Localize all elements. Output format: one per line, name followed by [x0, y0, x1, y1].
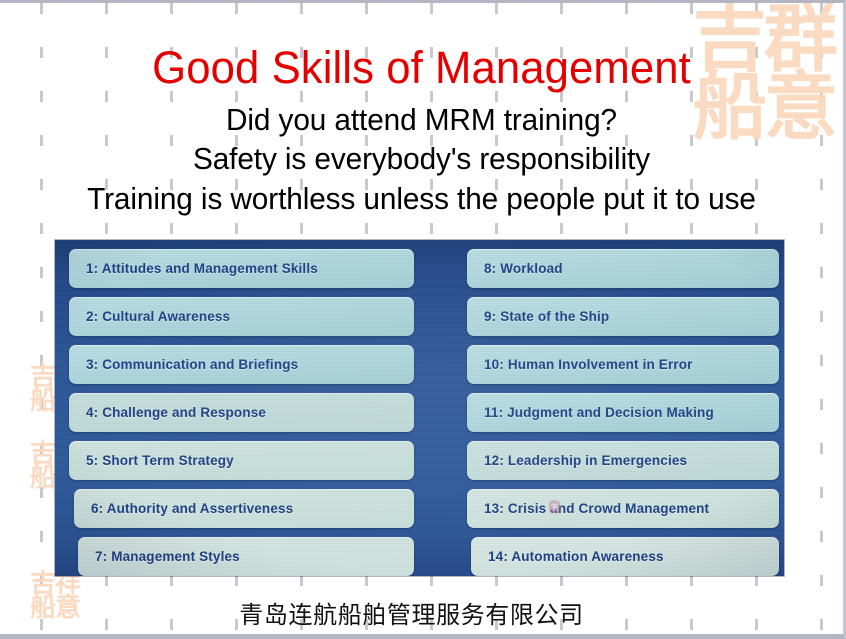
module-item-label: 11: Judgment and Decision Making — [484, 405, 714, 420]
subtitle-line-2: Safety is everybody's responsibility — [17, 139, 826, 179]
module-item-label: 14: Automation Awareness — [488, 549, 664, 564]
module-item: 3: Communication and Briefings — [69, 345, 414, 384]
module-item: 7: Management Styles — [78, 537, 414, 576]
module-item: 12: Leadership in Emergencies — [467, 441, 779, 480]
page-title: Good Skills of Management — [13, 45, 831, 92]
module-item: 6: Authority and Assertiveness — [74, 489, 414, 528]
module-item-label: 5: Short Term Strategy — [86, 453, 234, 468]
module-item-label: 12: Leadership in Emergencies — [484, 453, 687, 468]
module-item-label: 8: Workload — [484, 261, 563, 276]
module-item: 8: Workload — [467, 249, 779, 288]
module-list-right-column: 8: Workload 9: State of the Ship 10: Hum… — [467, 249, 779, 576]
module-list-left-column: 1: Attitudes and Management Skills 2: Cu… — [69, 249, 414, 576]
module-item: 1: Attitudes and Management Skills — [69, 249, 414, 288]
module-item-label: 13: Crisis and Crowd Management — [484, 501, 709, 516]
company-name: 青岛连航船舶管理服务有限公司 — [239, 601, 583, 629]
subtitle-line-1: Did you attend MRM training? — [17, 100, 826, 140]
module-item-label: 9: State of the Ship — [484, 309, 609, 324]
module-item-label: 3: Communication and Briefings — [86, 357, 298, 372]
module-item: 4: Challenge and Response — [69, 393, 414, 432]
mrm-course-module-photo: 1: Attitudes and Management Skills 2: Cu… — [55, 240, 784, 576]
module-item: 14: Automation Awareness — [471, 537, 779, 576]
module-item-label: 1: Attitudes and Management Skills — [86, 261, 318, 276]
slide-heading-block: Good Skills of Management Did you attend… — [0, 3, 843, 219]
module-item: 13: Crisis and Crowd Management — [467, 489, 779, 528]
module-item-label: 6: Authority and Assertiveness — [91, 501, 293, 516]
module-item: 2: Cultural Awareness — [69, 297, 414, 336]
module-item: 10: Human Involvement in Error — [467, 345, 779, 384]
subtitle-line-3: Training is worthless unless the people … — [17, 179, 826, 219]
slide-canvas: 吉群 船意 吉祥 船意 吉祥 船意 吉祥 船意 Good Skills of M… — [0, 0, 846, 639]
module-item: 5: Short Term Strategy — [69, 441, 414, 480]
module-item: 9: State of the Ship — [467, 297, 779, 336]
module-item-label: 2: Cultural Awareness — [86, 309, 230, 324]
module-item-label: 4: Challenge and Response — [86, 405, 266, 420]
module-item-label: 10: Human Involvement in Error — [484, 357, 693, 372]
company-footer: 青岛连航船舶管理服务有限公司 — [0, 595, 843, 630]
module-item: 11: Judgment and Decision Making — [467, 393, 779, 432]
module-item-label: 7: Management Styles — [95, 549, 240, 564]
